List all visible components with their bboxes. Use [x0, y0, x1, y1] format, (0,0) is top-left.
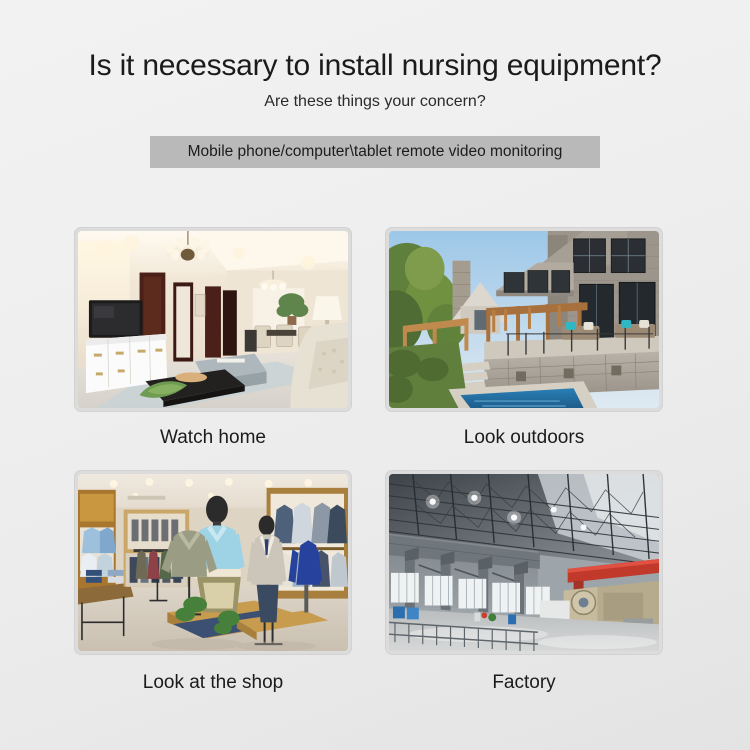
gallery-item-caption: Look at the shop — [74, 671, 352, 695]
scene-gallery: Watch home — [74, 227, 668, 657]
thumbnail-living-room — [74, 227, 352, 412]
gallery-item-caption: Look outdoors — [385, 426, 663, 450]
thumbnail-clothing-store — [74, 470, 352, 655]
thumbnail-factory — [385, 470, 663, 655]
gallery-item-factory: Factory — [385, 470, 663, 695]
factory-illustration — [389, 474, 659, 651]
gallery-item-caption: Factory — [385, 671, 663, 695]
gallery-item-caption: Watch home — [74, 426, 352, 450]
gallery-item-look-at-the-shop: Look at the shop — [74, 470, 352, 695]
living-room-illustration — [78, 231, 348, 408]
feature-banner-text: Mobile phone/computer\tablet remote vide… — [188, 142, 563, 162]
gallery-item-watch-home: Watch home — [74, 227, 352, 450]
house-exterior-illustration — [389, 231, 659, 408]
page-title: Is it necessary to install nursing equip… — [0, 48, 750, 84]
feature-banner: Mobile phone/computer\tablet remote vide… — [150, 136, 600, 168]
promo-page: Is it necessary to install nursing equip… — [0, 0, 750, 750]
thumbnail-house-exterior — [385, 227, 663, 412]
clothing-store-illustration — [78, 474, 348, 651]
page-subtitle: Are these things your concern? — [0, 91, 750, 113]
gallery-item-look-outdoors: Look outdoors — [385, 227, 663, 450]
